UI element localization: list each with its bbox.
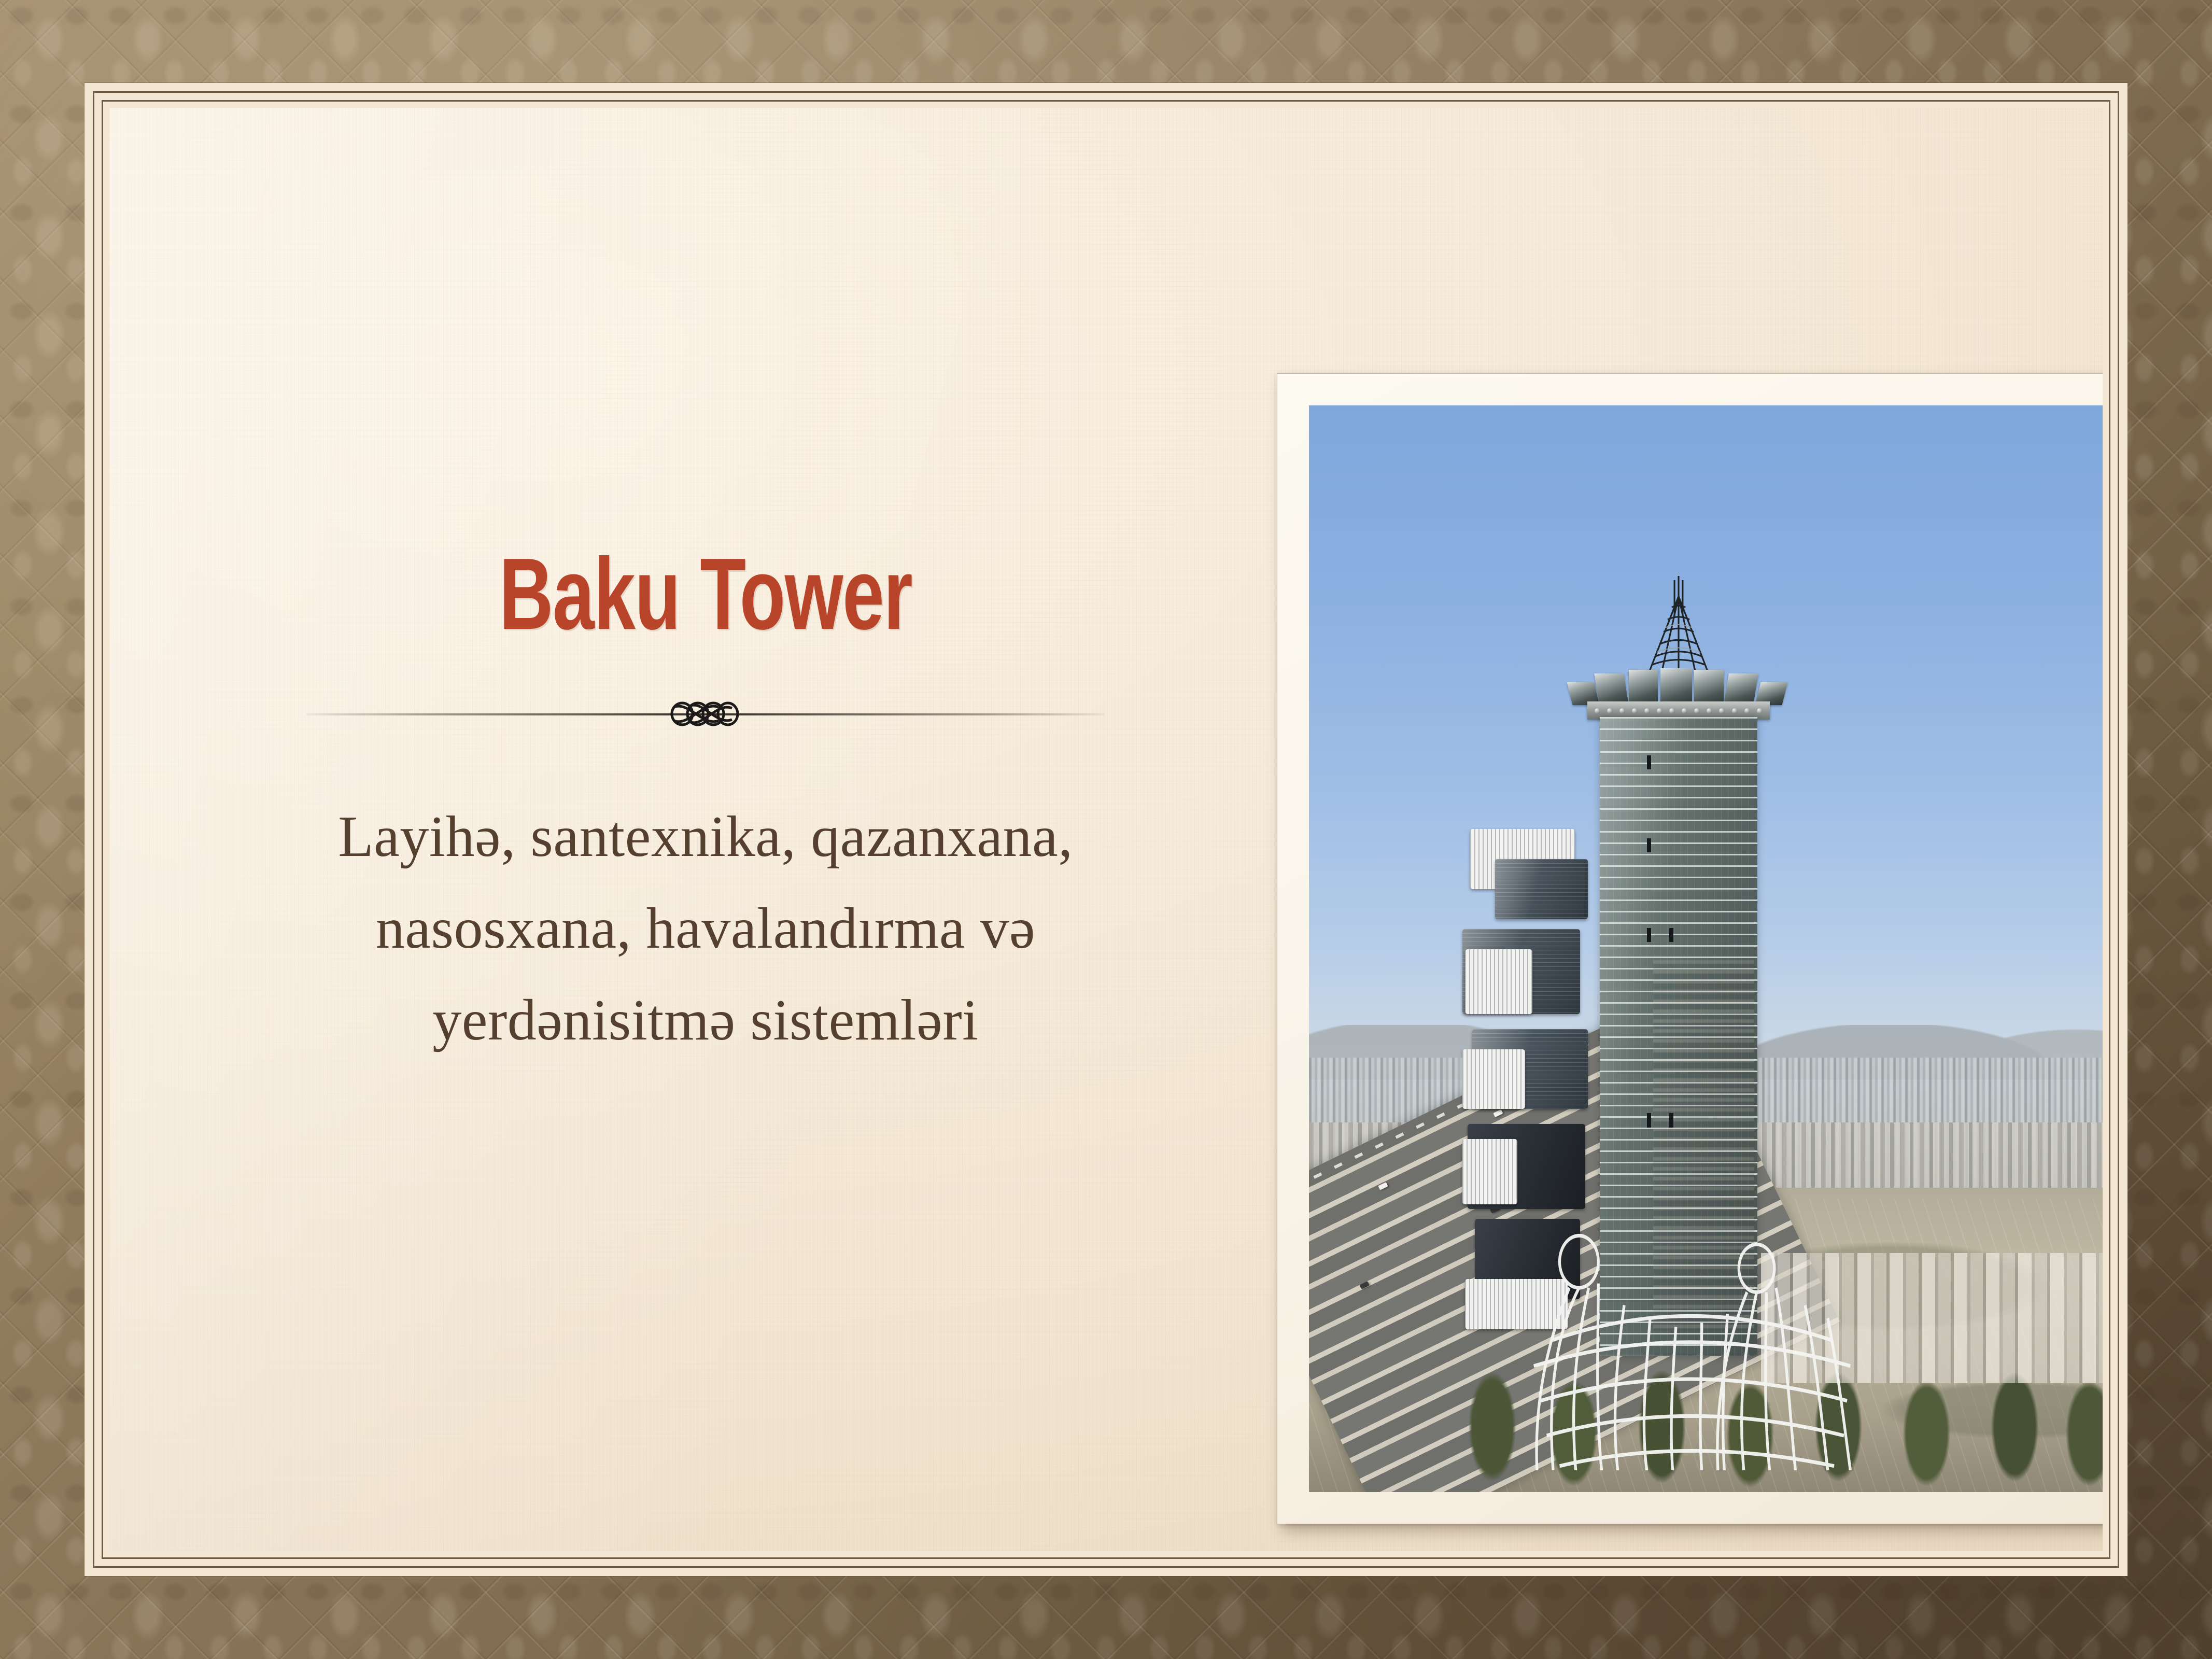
photo-tower-spire-icon	[1644, 576, 1713, 671]
baku-tower-photo	[1309, 405, 2103, 1492]
paper-panel: Baku Tower	[84, 83, 2128, 1576]
photo-frame	[1277, 373, 2103, 1524]
title-divider	[306, 695, 1105, 733]
photo-tower-crown	[1565, 668, 1792, 705]
panel-rule-outer: Baku Tower	[93, 91, 2119, 1568]
panel-rule-inner: Baku Tower	[102, 100, 2110, 1559]
presentation-slide: Baku Tower	[0, 0, 2212, 1659]
panel-surface: Baku Tower	[109, 108, 2103, 1551]
photo-base-lattice-icon	[1511, 1231, 1867, 1470]
slide-body-text: Layihə, santexnika, qazanxana, nasosxana…	[306, 791, 1105, 1066]
text-column: Baku Tower	[306, 543, 1105, 1066]
slide-title: Baku Tower	[410, 543, 1001, 645]
rope-knot-ornament-icon	[667, 695, 744, 733]
photo-cornice-spheres	[1595, 705, 1763, 716]
